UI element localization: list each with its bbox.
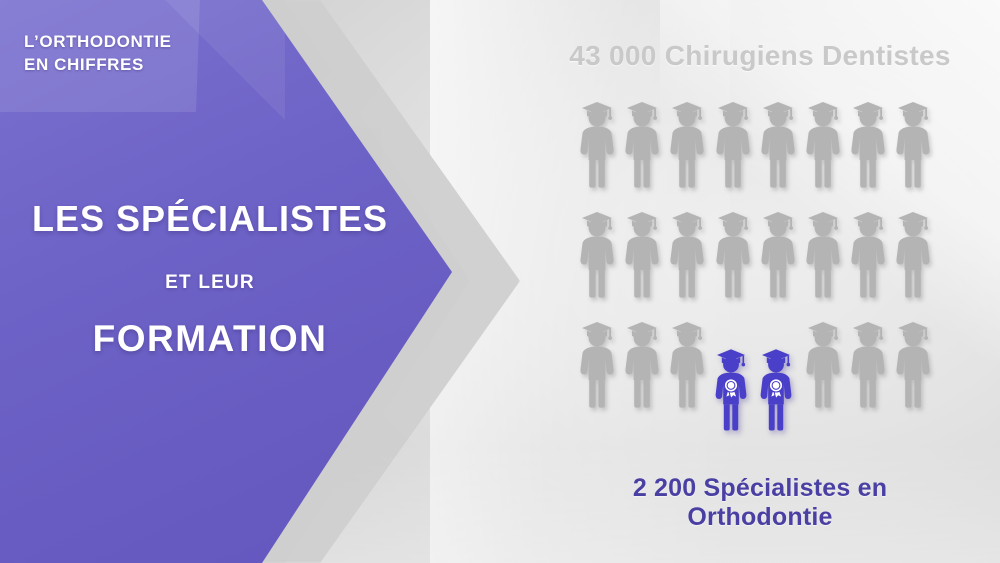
kicker-line-1: L’ORTHODONTIE [24,30,224,53]
dentist-icon [801,204,845,299]
pictogram-cell [620,204,664,314]
title-subject: FORMATION [0,318,420,360]
dentist-icon [801,314,845,409]
pictogram-cell [801,204,845,314]
pictogram-cell [711,94,755,204]
pictogram-cell [665,204,709,314]
dentist-icon [891,94,935,189]
title-connector: ET LEUR [0,272,420,294]
medal-icon [724,379,737,399]
pictogram-cell [756,94,800,204]
dentist-icon [846,94,890,189]
dentist-icon [575,314,619,409]
dentist-icon [846,204,890,299]
pictogram-cell [711,204,755,314]
dentist-icon [575,94,619,189]
infographic-slide: L’ORTHODONTIE EN CHIFFRES LES SPÉCIALIST… [0,0,1000,563]
dentist-icon [846,314,890,409]
pictogram-cell [575,204,619,314]
pictogram-cell [846,94,890,204]
pictogram-cell [575,314,619,424]
dentists-total-label: 43 000 Chirugiens Dentistes [560,40,960,72]
dentist-icon [620,204,664,299]
kicker-line-2: EN CHIFFRES [24,53,224,76]
dentist-icon [665,94,709,189]
dentist-icon [575,204,619,299]
pictogram-cell [575,94,619,204]
dentist-icon [756,94,800,189]
pictogram-cell [620,94,664,204]
pictogram-cell [756,314,800,424]
pictogram-cell [665,314,709,424]
dentist-icon [665,204,709,299]
pictogram-row-3 [575,314,975,424]
pictogram-row-1 [575,94,975,204]
dentist-icon [756,204,800,299]
pictogram-cell [620,314,664,424]
dentist-icon [711,204,755,299]
pictogram-cell [756,204,800,314]
orthodontist-specialist-icon [756,342,796,432]
pictogram-cell [665,94,709,204]
dentist-icon [620,94,664,189]
dentist-icon [711,94,755,189]
page-title: LES SPÉCIALISTES [0,198,420,240]
dentist-icon [665,314,709,409]
kicker-label: L’ORTHODONTIE EN CHIFFRES [24,30,224,77]
pictogram-cell [891,94,935,204]
dentist-icon [891,314,935,409]
dentist-icon [620,314,664,409]
pictogram-cell [846,314,890,424]
pictogram-cell [846,204,890,314]
pictogram-chart [575,94,975,464]
specialists-total-label: 2 200 Spécialistes en Orthodontie [560,474,960,532]
pictogram-row-2 [575,204,975,314]
dentist-icon [891,204,935,299]
dentist-icon [801,94,845,189]
medal-icon [769,379,782,399]
pictogram-cell [801,94,845,204]
pictogram-cell [711,314,755,424]
orthodontist-specialist-icon [711,342,751,432]
pictogram-cell [801,314,845,424]
pictogram-cell [891,204,935,314]
pictogram-cell [891,314,935,424]
